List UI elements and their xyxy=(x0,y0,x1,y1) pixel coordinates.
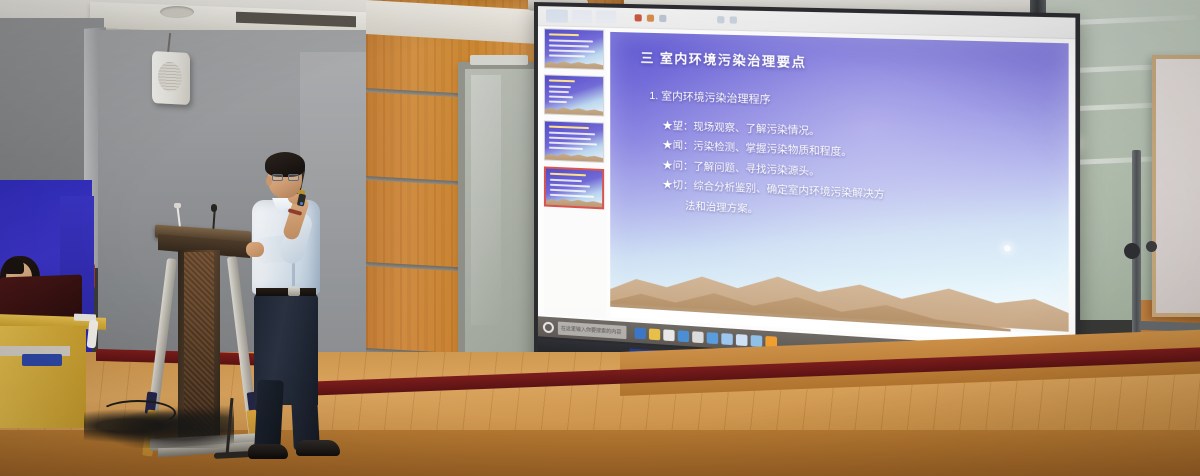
thumb-body-line xyxy=(549,96,573,99)
presenter-shoe-right xyxy=(296,440,340,456)
power-adapter xyxy=(87,320,99,349)
thumb-body-line xyxy=(549,101,567,104)
thumb-body-line xyxy=(549,90,569,93)
ribbon-icon[interactable] xyxy=(647,15,654,22)
ceiling-vent-icon xyxy=(160,6,194,18)
thumb-title-line xyxy=(550,173,586,177)
presenter-shoe-left xyxy=(248,444,288,459)
whiteboard-adjust-knob-secondary[interactable] xyxy=(1146,241,1157,252)
ribbon-tab[interactable] xyxy=(572,10,592,24)
ribbon-tab[interactable] xyxy=(546,9,568,23)
thumb-body-line xyxy=(550,179,582,182)
thumb-body-line xyxy=(549,137,591,141)
thumb-body-line xyxy=(549,132,595,136)
windows-start-icon[interactable] xyxy=(543,321,554,333)
thumb-body-line xyxy=(549,85,571,88)
presenter-belt-buckle xyxy=(288,287,300,296)
whiteboard-adjust-knob[interactable] xyxy=(1124,243,1140,259)
chrome-icon[interactable] xyxy=(692,331,703,343)
thumb-body-line xyxy=(549,44,589,47)
microphone-led-icon xyxy=(300,202,303,205)
ribbon-icon[interactable] xyxy=(635,14,642,21)
cable-loop xyxy=(100,400,176,426)
gooseneck-mic-head-icon-2 xyxy=(211,204,217,212)
taskbar-search-input[interactable]: 在这里输入你要搜索的内容 xyxy=(558,321,627,339)
presenter-hand-left xyxy=(246,242,264,257)
slide-thumbnail[interactable] xyxy=(544,120,604,163)
operator-fringe xyxy=(4,258,24,274)
slide-thumbnail-selected[interactable] xyxy=(544,166,604,209)
glasses-icon xyxy=(272,174,300,181)
thumb-body-line xyxy=(550,189,586,193)
thumb-mountain-graphic xyxy=(545,58,603,69)
pa-speaker-icon xyxy=(152,51,190,105)
store-icon[interactable] xyxy=(663,329,674,341)
edge-icon[interactable] xyxy=(635,327,646,339)
powerpoint-window: 三 室内环境污染治理要点 1. 室内环境污染治理程序 ★望：现场观察、了解污染情… xyxy=(538,6,1075,372)
taskbar-icon-group[interactable] xyxy=(635,327,777,348)
ribbon-icon[interactable] xyxy=(730,16,737,23)
slide-canvas[interactable]: 三 室内环境污染治理要点 1. 室内环境污染治理程序 ★望：现场观察、了解污染情… xyxy=(610,32,1068,346)
file-explorer-icon[interactable] xyxy=(649,328,660,340)
panel-reflection xyxy=(471,75,501,325)
slide-thumbnail[interactable] xyxy=(544,28,604,70)
presentation-room-photo: 三 室内环境污染治理要点 1. 室内环境污染治理程序 ★望：现场观察、了解污染情… xyxy=(0,0,1200,476)
speaker-grille xyxy=(158,61,182,92)
thumb-mountain-graphic xyxy=(545,150,603,161)
ribbon-icon[interactable] xyxy=(659,15,666,22)
current-slide: 三 室内环境污染治理要点 1. 室内环境污染治理程序 ★望：现场观察、了解污染情… xyxy=(610,32,1068,346)
thumb-body-line xyxy=(549,147,583,150)
slide-thumbnail[interactable] xyxy=(544,74,604,116)
thumb-title-line xyxy=(549,126,589,130)
thumb-body-line xyxy=(550,184,590,188)
thumb-body-line xyxy=(550,194,594,198)
thumb-title-line xyxy=(549,33,579,36)
glasses-lens-right xyxy=(288,174,299,181)
mail-icon[interactable] xyxy=(678,330,689,342)
thumb-body-line xyxy=(549,54,585,57)
presenter-leg-left xyxy=(254,379,284,452)
thumb-body-line xyxy=(549,142,597,146)
projection-screen-surface: 三 室内环境污染治理要点 1. 室内环境污染治理程序 ★望：现场观察、了解污染情… xyxy=(538,6,1075,372)
slide-bullet-list: ★望：现场观察、了解污染情况。 ★闻：污染检测、掌握污染物质和程度。 ★问：了解… xyxy=(662,116,1039,234)
panel-top-tray xyxy=(470,55,528,65)
ribbon-icon[interactable] xyxy=(717,16,724,23)
shelf-blue-item xyxy=(22,354,62,366)
wps-icon[interactable] xyxy=(751,334,763,346)
thumb-mountain-graphic xyxy=(545,104,603,115)
slide-thumbnail-pane[interactable] xyxy=(544,28,606,318)
glasses-lens-left xyxy=(272,174,283,181)
presenter-belt xyxy=(256,288,316,296)
word-icon[interactable] xyxy=(721,333,733,345)
gooseneck-mic-head-icon xyxy=(174,203,181,208)
browser-icon[interactable] xyxy=(707,332,718,344)
powerpoint-icon[interactable] xyxy=(736,334,748,346)
thumb-body-line xyxy=(549,39,593,42)
thumb-title-line xyxy=(549,79,575,82)
thumb-body-line xyxy=(549,49,595,52)
operator-table xyxy=(0,326,86,428)
ribbon-tab[interactable] xyxy=(596,10,616,24)
whiteboard xyxy=(1152,55,1200,317)
